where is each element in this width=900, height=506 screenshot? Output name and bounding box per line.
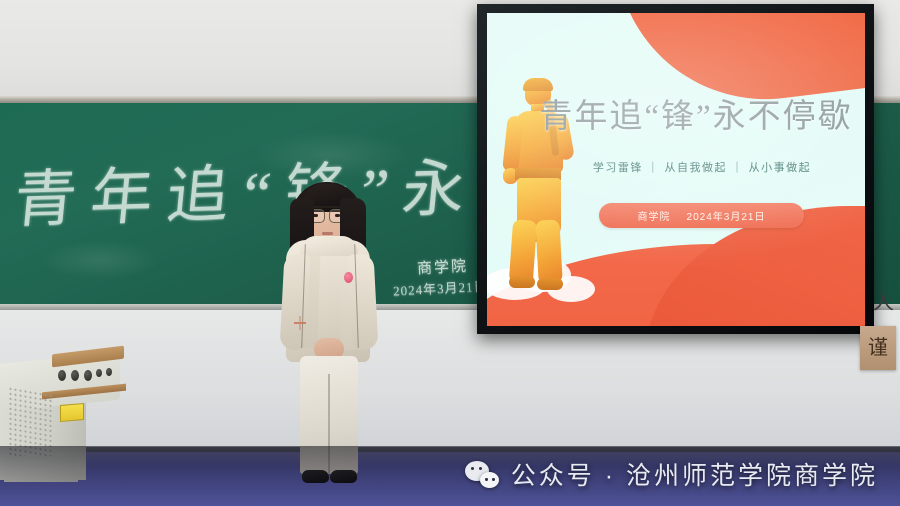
sleeve-right — [348, 253, 379, 350]
mouth — [322, 232, 333, 235]
jacket-collar — [300, 236, 358, 256]
pants-seam — [328, 374, 330, 474]
jacket-logo — [294, 316, 306, 330]
jacket-pin — [344, 272, 353, 283]
wall-placard-char-2: 谨 — [860, 326, 896, 370]
lectern-knob[interactable] — [96, 369, 102, 377]
eyebrows — [311, 206, 342, 208]
projector-screen: 青年追“锋”永不停歇 学习雷锋 ｜ 从自我做起 ｜ 从小事做起 商学院 2024… — [487, 13, 865, 326]
slide-title: 青年追“锋”永不停歇 — [531, 89, 861, 137]
student-speaker — [272, 176, 384, 506]
lectern-base — [4, 456, 78, 482]
multimedia-lectern — [0, 344, 120, 480]
watermark-text: 公众号 · 沧州师范学院商学院 — [511, 456, 878, 492]
blackboard-chalk-signature: 商学院 — [416, 255, 468, 279]
slide-badge-org: 商学院 — [638, 208, 671, 223]
shoe-left — [302, 470, 329, 483]
wall-placard-char-1: 人 — [873, 286, 894, 316]
slide-subtitle: 学习雷锋 ｜ 从自我做起 ｜ 从小事做起 — [547, 159, 857, 175]
warning-sticker-icon — [60, 403, 84, 422]
lectern-knob[interactable] — [106, 368, 112, 376]
slide-date-badge: 商学院 2024年3月21日 — [599, 203, 804, 228]
sleeve-left — [280, 253, 311, 350]
lectern-knob[interactable] — [71, 370, 79, 381]
classroom-photo: 青年追“锋”永不停歇 商学院 2024年3月21日 — [0, 0, 900, 506]
lectern-knob[interactable] — [84, 370, 92, 381]
wechat-icon — [465, 461, 499, 488]
watermark: 公众号 · 沧州师范学院商学院 — [465, 456, 878, 492]
chalk-smudge — [40, 240, 160, 280]
shoe-right — [330, 470, 357, 483]
lectern-knob[interactable] — [58, 370, 66, 381]
slide-badge-date: 2024年3月21日 — [687, 208, 766, 223]
